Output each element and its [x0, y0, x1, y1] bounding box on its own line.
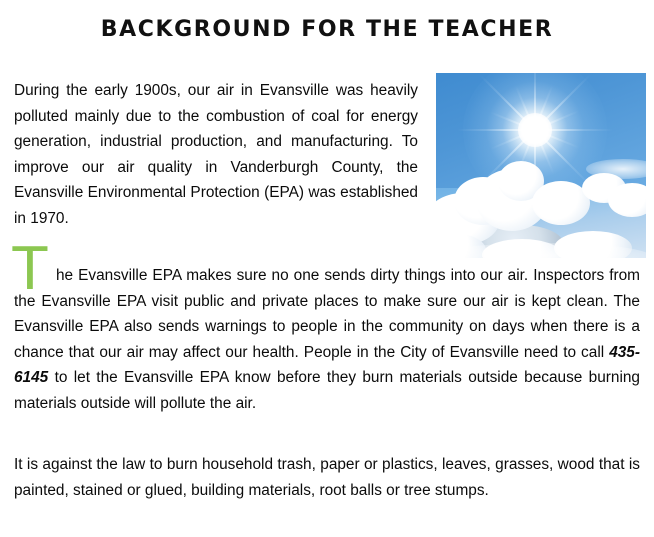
paragraph-epa-duties-text-a: he Evansville EPA makes sure no one send…	[14, 267, 640, 361]
paragraph-burn-ban: It is against the law to burn household …	[14, 452, 640, 503]
page-title: BACKGROUND FOR THE TEACHER	[0, 17, 654, 43]
paragraph-epa-duties: he Evansville EPA makes sure no one send…	[14, 263, 640, 417]
paragraph-intro: During the early 1900s, our air in Evans…	[14, 78, 418, 232]
sky-photo-image	[436, 73, 646, 258]
document-page: BACKGROUND FOR THE TEACHER	[0, 0, 654, 537]
paragraph-epa-duties-text-b: to let the Evansville EPA know before th…	[14, 369, 640, 412]
cloud-right-edge	[608, 183, 646, 217]
